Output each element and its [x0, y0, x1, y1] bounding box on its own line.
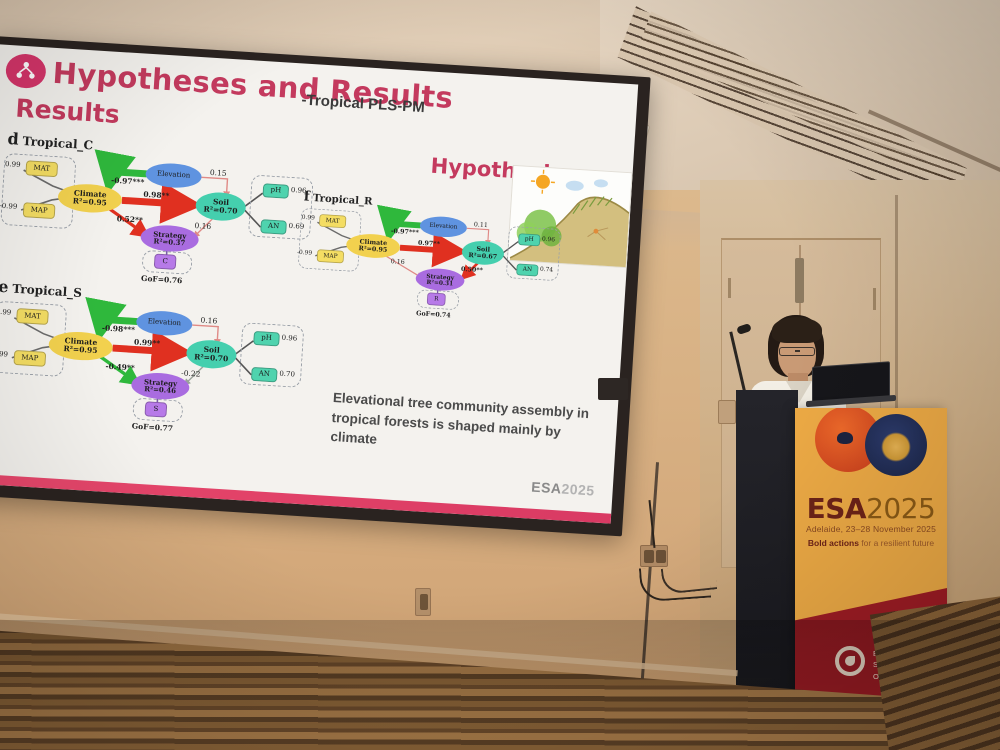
gof-e: GoF=0.77 [132, 421, 174, 433]
path-panel-f: fTropical_R [295, 188, 510, 293]
path-panel-e: eTropical_S [0, 277, 294, 416]
path-climate-strategy-f: 0.16 [390, 257, 404, 265]
conference-room-scene: Hypotheses and Results -Tropical PLS-PM … [0, 0, 1000, 750]
wall-outlet-upper[interactable] [718, 400, 736, 424]
path-soil-strategy-d: 0.16 [194, 221, 211, 231]
indicator-ph-f: pH [518, 233, 541, 246]
indicator-ph-d: pH [262, 183, 289, 199]
projected-slide: Hypotheses and Results -Tropical PLS-PM … [0, 44, 638, 523]
slide-esa-watermark: ESA2025 [531, 479, 595, 499]
indicator-map-f: MAP [317, 249, 345, 263]
indicator-mat-e: MAT [16, 308, 49, 325]
network-nodes-icon [5, 53, 47, 89]
loading-map-d: -0.99 [0, 202, 18, 211]
door-hinge-right [873, 288, 876, 310]
loading-mat-f: 0.99 [302, 214, 315, 222]
loading-map-f: -0.99 [297, 249, 312, 257]
door-hinge-left [728, 278, 731, 298]
esa-event-tagline: Bold actions for a resilient future [795, 538, 947, 548]
path-climate-soil-e: 0.99** [134, 337, 161, 348]
path-elev-soil-d: 0.15 [210, 168, 227, 178]
door-handle[interactable] [795, 258, 804, 303]
ecological-society-logo-icon [835, 646, 865, 676]
indicator-s-e: S [144, 401, 167, 417]
indicator-map-e: MAP [13, 350, 46, 367]
indicator-an-e: AN [251, 367, 278, 383]
conclusion-text: Elevational tree community assembly in t… [330, 388, 601, 463]
path-elev-soil-f: 0.11 [474, 220, 488, 228]
wall-outlet-left[interactable] [415, 588, 431, 616]
indicator-mat-d: MAT [25, 160, 58, 177]
indicator-mat-f: MAT [319, 214, 347, 228]
indicator-r-f: R [427, 292, 446, 306]
gof-f: GoF=0.74 [416, 309, 451, 319]
path-soil-strategy-f: 0.50** [461, 265, 483, 274]
path-soil-strategy-e: -0.22 [181, 368, 201, 378]
gof-d: GoF=0.76 [141, 274, 183, 286]
loading-ph-e: 0.96 [281, 334, 297, 343]
path-climate-strategy-d: 0.52** [116, 214, 143, 225]
esa-event-date: Adelaide, 23–28 November 2025 [795, 524, 947, 534]
esa-emblem [809, 408, 933, 484]
loading-mat-e: 0.99 [0, 308, 12, 317]
loading-an-e: 0.70 [279, 370, 295, 379]
loading-an-f: 0.74 [540, 266, 553, 274]
striped-carpet-right [870, 587, 1000, 750]
indicator-an-d: AN [260, 219, 287, 235]
loading-map-e: -0.99 [0, 349, 8, 358]
wall-outlet-right[interactable] [640, 545, 668, 567]
esa-event-logo: ESA2025 [795, 492, 947, 525]
loading-mat-d: 0.99 [5, 160, 21, 169]
indicator-ph-e: pH [253, 331, 280, 347]
loading-ph-f: 0.96 [542, 236, 555, 244]
results-section-label: Results [15, 94, 121, 129]
indicator-c-d: C [154, 254, 177, 270]
emblem-plant-circle [865, 414, 927, 476]
indicator-an-f: AN [516, 263, 539, 276]
indicator-map-d: MAP [23, 202, 56, 219]
screen-mount-bracket [598, 378, 628, 400]
path-climate-soil-d: 0.98** [143, 190, 170, 201]
path-climate-soil-f: 0.97** [418, 239, 440, 248]
path-elev-soil-e: 0.16 [200, 316, 217, 326]
path-climate-strategy-e: -0.49** [105, 362, 135, 373]
path-panel-d: dTropical_C [0, 129, 304, 268]
glasses-icon [779, 347, 815, 356]
projection-screen: Hypotheses and Results -Tropical PLS-PM … [0, 36, 651, 536]
presenter-fringe [772, 317, 822, 343]
